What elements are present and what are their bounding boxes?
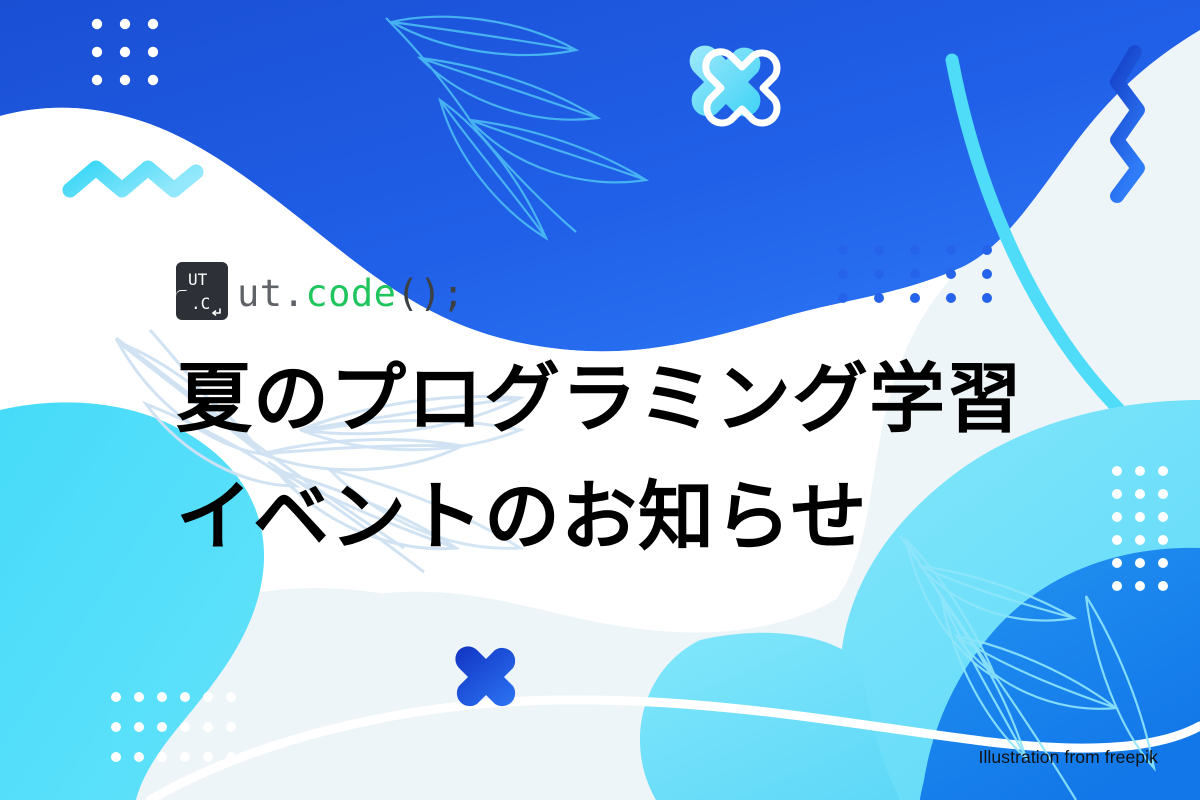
headline-line-1: 夏のプログラミング学習 (176, 340, 1023, 458)
headline-line-2: イベントのお知らせ (176, 458, 1023, 576)
logo-top-text: UT (188, 270, 208, 289)
logo-bottom-text: .C (191, 294, 210, 313)
poster-canvas: UT .C ut.code(); 夏のプログラミング学習 イベントのお知らせ I… (0, 0, 1200, 800)
page-title: 夏のプログラミング学習 イベントのお知らせ (176, 340, 1023, 576)
brand-wordmark: ut.code(); (237, 275, 465, 312)
illustration-credit: Illustration from freepik (978, 747, 1158, 768)
wordmark-suffix: (); (396, 272, 464, 315)
wordmark-highlight: code (305, 272, 396, 315)
utcode-logo-icon: UT .C (176, 262, 228, 320)
wordmark-prefix: ut. (237, 272, 305, 315)
brand-lockup: UT .C ut.code(); (176, 262, 465, 320)
